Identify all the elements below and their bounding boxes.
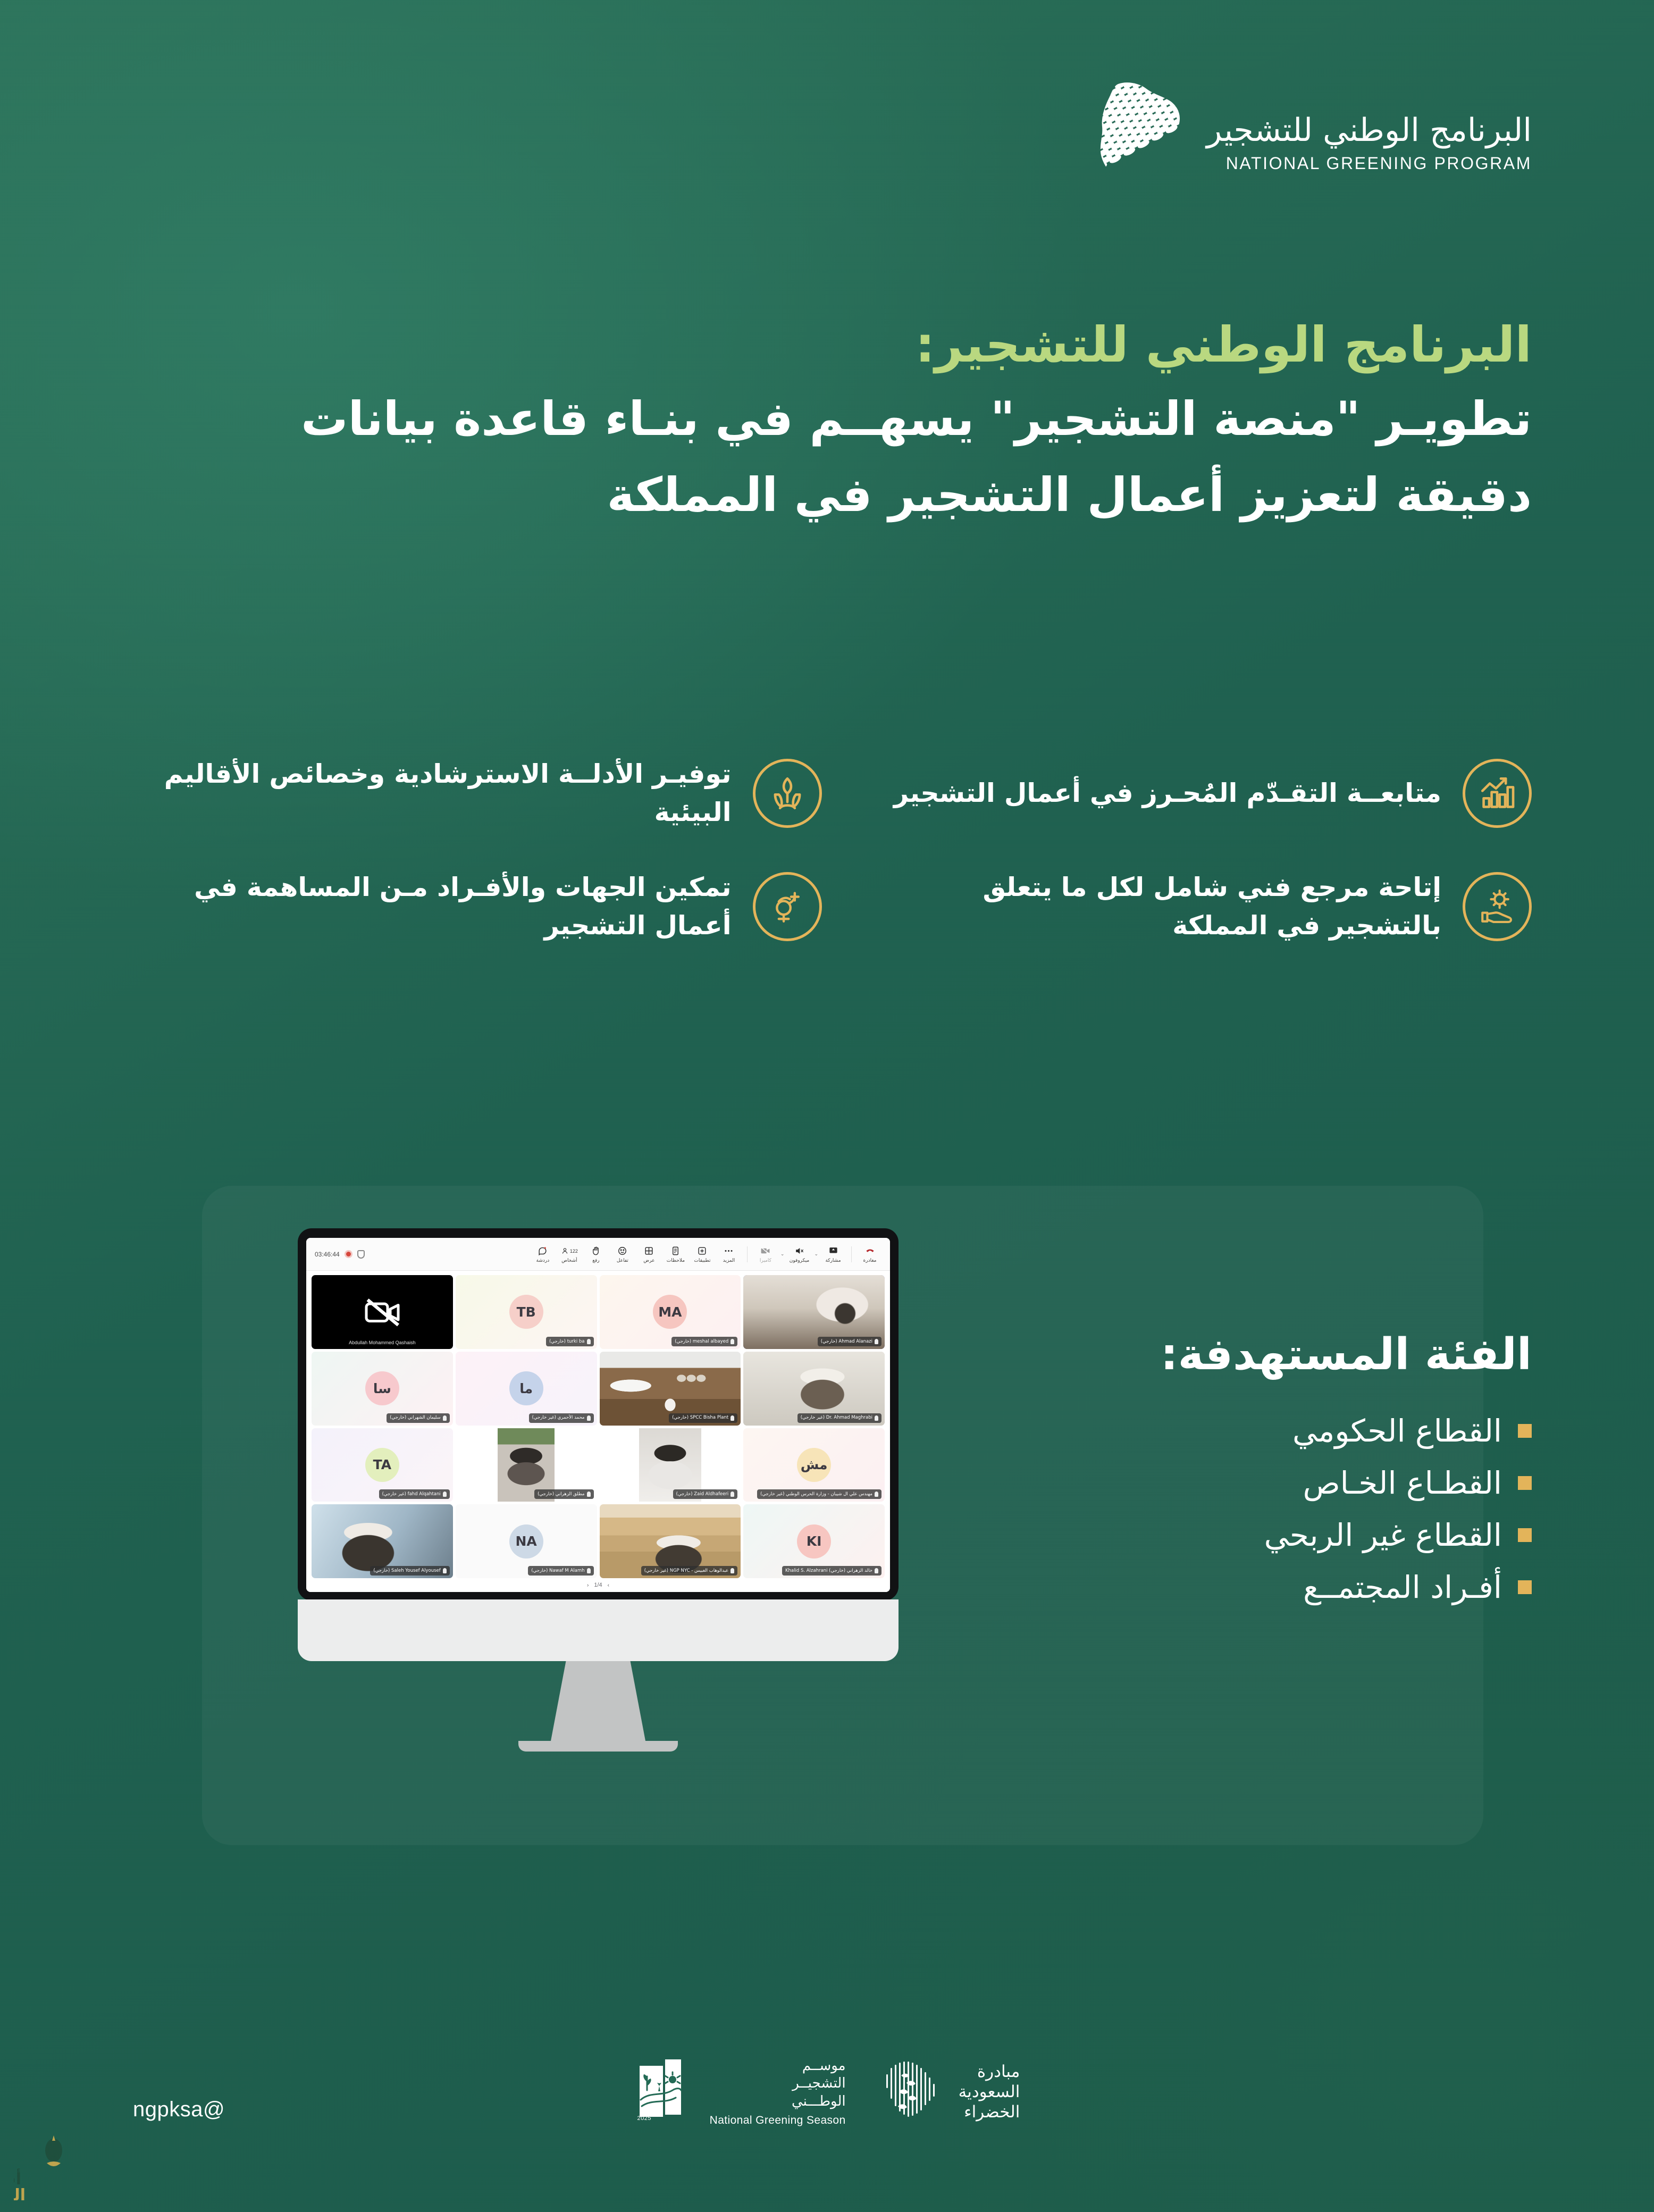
toolbar-label: أشخاص <box>561 1258 577 1263</box>
mic-muted-icon <box>875 1415 878 1421</box>
participant-name-bar: Saleh Yousef Alyousef (خارجي) <box>370 1566 449 1576</box>
headline-line-2: دقيقة لتعزيز أعمال التشجير في المملكة <box>122 462 1532 529</box>
feature-item: توفيـر الأدلــة الاسترشادية وخصائص الأقا… <box>159 755 822 831</box>
participant-tile[interactable]: Abdullah Mohammed Qashaish <box>312 1275 453 1349</box>
list-item: القطاع غير الربحي <box>968 1517 1532 1553</box>
mic-muted-icon <box>587 1568 591 1573</box>
mic-muted-icon <box>731 1415 734 1421</box>
avatar: مش <box>797 1448 831 1482</box>
participant-tile[interactable]: Dr. Ahmad Maghrabi (غير خارجي) <box>743 1352 885 1426</box>
mic-muted-icon <box>587 1339 591 1344</box>
participant-name: Saleh Yousef Alyousef (خارجي) <box>373 1569 440 1573</box>
leave-call-icon <box>865 1245 875 1257</box>
participant-name: Zaid Aldhafeeri (خارجي) <box>676 1492 729 1497</box>
brand-text: البرنامج الوطني للتشجير NATIONAL GREENIN… <box>1206 114 1532 173</box>
mic-muted-icon <box>443 1568 447 1573</box>
apps-icon <box>697 1245 707 1257</box>
participant-name: محمد الأحمري (غير خارجي) <box>532 1415 585 1420</box>
share-screen-icon <box>828 1245 838 1257</box>
ngs-english: National Greening Season <box>710 2114 846 2127</box>
mic-muted-icon <box>443 1415 447 1421</box>
mic-muted-icon <box>443 1492 447 1497</box>
meeting-screen: مغادرة مشاركة ⌄ ميكروفون <box>306 1238 890 1592</box>
feature-item: إتاحة مرجع فني شامل لكل ما يتعلق بالتشجي… <box>870 868 1532 944</box>
participant-tile[interactable]: SPCC Bisha Plant (خارجي) <box>600 1352 741 1426</box>
participant-tile[interactable]: ما محمد الأحمري (غير خارجي) <box>456 1352 597 1426</box>
watermark-line-2: الخبر <box>14 2186 26 2205</box>
camera-off-icon <box>361 1291 404 1333</box>
participant-tile[interactable]: مطلق الزهراني (خارجي) <box>456 1428 597 1502</box>
toolbar-label: عرض <box>643 1258 654 1263</box>
participant-name-bar: fahd Alqahtani (غير خارجي) <box>379 1489 450 1499</box>
headline-line-1: تطويـر "منصة التشجير" يسهــم في بنـاء قا… <box>122 386 1532 453</box>
speaker-icon <box>794 1245 804 1257</box>
meeting-toolbar: مغادرة مشاركة ⌄ ميكروفون <box>306 1238 890 1271</box>
participant-tile[interactable]: Ahmad Alanazi (خارجي) <box>743 1275 885 1349</box>
avatar: TA <box>365 1448 399 1482</box>
sgi-line-3: الخضراء <box>959 2102 1020 2123</box>
toolbar-status: 03:46:44 <box>315 1250 365 1259</box>
monitor-base <box>518 1741 678 1752</box>
toolbar-label: تطبيقات <box>694 1258 710 1263</box>
hands-plant-icon <box>753 759 822 828</box>
participant-tile[interactable]: TA fahd Alqahtani (غير خارجي) <box>312 1428 453 1502</box>
participant-name-bar: خالد الزهراني (خارجي) Khalid S. Alzahran… <box>782 1566 881 1576</box>
chat-icon <box>538 1245 548 1257</box>
avatar: MA <box>653 1295 687 1329</box>
grid-pager[interactable]: › 1/4 ‹ <box>306 1578 890 1592</box>
participant-tile[interactable]: KI خالد الزهراني (خارجي) Khalid S. Alzah… <box>743 1504 885 1578</box>
participant-name-bar: عبدالوهاب الغبيس - NGP NYC (غير خارجي) <box>641 1566 738 1576</box>
shield-icon <box>357 1250 365 1259</box>
view-grid-icon <box>644 1245 654 1257</box>
participant-tile[interactable]: Saleh Yousef Alyousef (خارجي) <box>312 1504 453 1578</box>
camera-off-icon <box>760 1245 770 1257</box>
audience-label: القطاع الحكومي <box>1292 1413 1502 1449</box>
participants-count: 122 <box>570 1249 578 1254</box>
toolbar-label: المزيد <box>723 1258 735 1263</box>
brand-name-arabic: البرنامج الوطني للتشجير <box>1206 114 1532 147</box>
audience-label: أفـراد المجتمــع <box>1303 1569 1502 1605</box>
list-item: أفـراد المجتمــع <box>968 1569 1532 1605</box>
toolbar-divider <box>747 1246 748 1262</box>
sgi-line-2: السعودية <box>959 2082 1020 2102</box>
monitor-neck <box>551 1661 645 1741</box>
participant-name-bar: سليمان الشهراني (خارجي) <box>387 1413 450 1423</box>
ngs-year: 2025 <box>637 2115 651 2122</box>
bullet-icon <box>1518 1528 1532 1542</box>
ngs-line-1: موســم <box>710 2057 846 2075</box>
reactions-icon <box>617 1245 627 1257</box>
participant-tile[interactable]: سا سليمان الشهراني (خارجي) <box>312 1352 453 1426</box>
features-list: متابعــة التقـدّم المُحـرز في أعمال التش… <box>159 755 1532 944</box>
mic-muted-icon <box>875 1492 878 1497</box>
saudi-map-leaves-icon <box>1087 80 1188 207</box>
participant-name: عبدالوهاب الغبيس - NGP NYC (غير خارجي) <box>644 1569 729 1573</box>
mic-muted-icon <box>587 1492 591 1497</box>
toolbar-share-screen[interactable]: مشاركة <box>820 1244 846 1264</box>
ngs-text: موســم التشجيــر الوطـــني National Gree… <box>710 2057 846 2127</box>
toolbar-view[interactable]: عرض <box>636 1244 662 1264</box>
participant-name: SPCC Bisha Plant (خارجي) <box>672 1415 728 1420</box>
toolbar-label: كاميرا <box>760 1258 771 1263</box>
avatar: سا <box>365 1371 399 1405</box>
participant-name: Ahmad Alanazi (خارجي) <box>821 1339 872 1344</box>
bullet-icon <box>1518 1424 1532 1438</box>
bullet-icon <box>1518 1580 1532 1594</box>
people-connect-icon <box>753 872 822 941</box>
meeting-timer: 03:46:44 <box>315 1251 340 1258</box>
saudi-green-initiative-logo: مبادرة السعودية الخضراء <box>883 2060 1020 2124</box>
audience-title: الفئة المستهدفة: <box>968 1329 1532 1380</box>
national-greening-season-logo: موســم التشجيــر الوطـــني National Gree… <box>634 2057 846 2127</box>
desktop-monitor: مغادرة مشاركة ⌄ ميكروفون <box>298 1228 899 1752</box>
toolbar-label: مشاركة <box>825 1258 841 1263</box>
toolbar-microphone[interactable]: ميكروفون <box>786 1244 812 1264</box>
toolbar-raise-hand[interactable]: رفع <box>583 1244 609 1264</box>
toolbar-leave-call[interactable]: مغادرة <box>857 1244 883 1264</box>
participant-name-bar: meshal albayed (خارجي) <box>671 1337 737 1346</box>
toolbar-label: رفع <box>592 1258 599 1263</box>
toolbar-more[interactable]: المزيد <box>716 1244 742 1264</box>
toolbar-camera[interactable]: كاميرا <box>753 1244 778 1264</box>
avatar: TB <box>509 1295 543 1329</box>
participant-name: Nawaf M Alamh (خارجي) <box>531 1569 584 1573</box>
feature-label: توفيـر الأدلــة الاسترشادية وخصائص الأقا… <box>159 755 732 831</box>
participant-name: Abdullah Mohammed Qashaish <box>312 1340 453 1345</box>
feature-label: متابعــة التقـدّم المُحـرز في أعمال التش… <box>870 774 1442 812</box>
toolbar-label: ميكروفون <box>790 1258 809 1263</box>
toolbar-label: دردشة <box>536 1258 550 1263</box>
avatar: KI <box>797 1524 831 1559</box>
participant-name: fahd Alqahtani (غير خارجي) <box>382 1492 441 1497</box>
toolbar-apps[interactable]: تطبيقات <box>690 1244 715 1264</box>
pager-prev-icon[interactable]: ‹ <box>608 1582 609 1588</box>
avatar: ما <box>509 1371 543 1405</box>
recording-indicator-icon <box>345 1250 352 1258</box>
people-icon: 122 <box>561 1245 578 1257</box>
sgi-text: مبادرة السعودية الخضراء <box>959 2062 1020 2122</box>
page-title: البرنامج الوطني للتشجير: تطويـر "منصة ال… <box>122 314 1532 529</box>
watermark-logo: أقلام الخبر <box>14 2125 94 2205</box>
participant-name-bar: Nawaf M Alamh (خارجي) <box>528 1566 593 1576</box>
participant-name-bar: Dr. Ahmad Maghrabi (غير خارجي) <box>797 1413 881 1423</box>
participant-name: meshal albayed (خارجي) <box>675 1339 728 1344</box>
ngs-line-2: التشجيــر <box>710 2075 846 2092</box>
sgi-mark-icon <box>883 2060 947 2124</box>
participant-grid: Abdullah Mohammed Qashaish TB turki ba (… <box>306 1271 890 1578</box>
sgi-line-1: مبادرة <box>959 2062 1020 2082</box>
participant-name: مطلق الزهراني (خارجي) <box>538 1492 584 1497</box>
mic-muted-icon <box>587 1415 591 1421</box>
mic-muted-icon <box>731 1339 734 1344</box>
participant-name-bar: turki ba (خارجي) <box>546 1337 593 1346</box>
pager-label: 1/4 <box>594 1582 602 1588</box>
chevron-down-icon[interactable]: ⌄ <box>813 1252 819 1257</box>
mic-muted-icon <box>731 1568 734 1573</box>
toolbar-reactions[interactable]: تفاعل <box>610 1244 635 1264</box>
hand-gear-icon <box>1463 872 1532 941</box>
notes-icon <box>670 1245 681 1257</box>
monitor-bezel: مغادرة مشاركة ⌄ ميكروفون <box>298 1228 899 1601</box>
toolbar-people[interactable]: 122 أشخاص <box>557 1244 582 1264</box>
feature-item: متابعــة التقـدّم المُحـرز في أعمال التش… <box>870 755 1532 831</box>
toolbar-chat[interactable]: دردشة <box>530 1244 556 1264</box>
participant-tile[interactable]: TB turki ba (خارجي) <box>456 1275 597 1349</box>
chevron-down-icon[interactable]: ⌄ <box>779 1252 786 1257</box>
participant-name: مهندس علي ال شيبان - وزارة الحرس الوطني … <box>760 1492 872 1497</box>
headline-lead: البرنامج الوطني للتشجير: <box>122 314 1532 376</box>
feature-item: تمكين الجهات والأفـراد مـن المساهمة في أ… <box>159 868 822 944</box>
brand-name-english: NATIONAL GREENING PROGRAM <box>1206 154 1532 173</box>
mic-muted-icon <box>731 1492 734 1497</box>
participant-name: turki ba (خارجي) <box>549 1339 584 1344</box>
audience-label: القطـاع الخـاص <box>1303 1465 1502 1501</box>
participant-name-bar: Zaid Aldhafeeri (خارجي) <box>673 1489 738 1499</box>
ngs-line-3: الوطـــني <box>710 2093 846 2110</box>
list-item: القطـاع الخـاص <box>968 1465 1532 1501</box>
brand-logo: البرنامج الوطني للتشجير NATIONAL GREENIN… <box>1087 80 1532 207</box>
audience-list: القطاع الحكومي القطـاع الخـاص القطاع غير… <box>968 1413 1532 1605</box>
participant-tile[interactable]: عبدالوهاب الغبيس - NGP NYC (غير خارجي) <box>600 1504 741 1578</box>
participant-name-bar: SPCC Bisha Plant (خارجي) <box>669 1413 737 1423</box>
pager-next-icon[interactable]: › <box>587 1582 589 1588</box>
feature-label: تمكين الجهات والأفـراد مـن المساهمة في أ… <box>159 868 732 944</box>
participant-tile[interactable]: MA meshal albayed (خارجي) <box>600 1275 741 1349</box>
more-icon <box>724 1245 734 1257</box>
ngs-mark-icon: 2025 <box>634 2058 698 2126</box>
participant-name-bar: مطلق الزهراني (خارجي) <box>534 1489 593 1499</box>
avatar: NA <box>509 1524 543 1559</box>
bullet-icon <box>1518 1476 1532 1490</box>
toolbar-notes[interactable]: ملاحظات <box>663 1244 689 1264</box>
participant-name-bar: Ahmad Alanazi (خارجي) <box>818 1337 881 1346</box>
participant-name: Dr. Ahmad Maghrabi (غير خارجي) <box>801 1415 872 1420</box>
participant-name-bar: محمد الأحمري (غير خارجي) <box>529 1413 594 1423</box>
participant-tile[interactable]: NA Nawaf M Alamh (خارجي) <box>456 1504 597 1578</box>
toolbar-divider <box>851 1246 852 1262</box>
social-handle: @ngpksa <box>133 2098 225 2122</box>
feature-label: إتاحة مرجع فني شامل لكل ما يتعلق بالتشجي… <box>870 868 1442 944</box>
toolbar-label: ملاحظات <box>667 1258 685 1263</box>
participant-tile[interactable]: Zaid Aldhafeeri (خارجي) <box>600 1428 741 1502</box>
footer-logos: مبادرة السعودية الخضراء <box>0 2057 1654 2127</box>
participant-tile[interactable]: مش مهندس علي ال شيبان - وزارة الحرس الوط… <box>743 1428 885 1502</box>
toolbar-label: تفاعل <box>617 1258 628 1263</box>
monitor-chin <box>298 1599 899 1661</box>
growth-chart-icon <box>1463 759 1532 828</box>
audience-label: القطاع غير الربحي <box>1264 1517 1502 1553</box>
participant-name-bar: مهندس علي ال شيبان - وزارة الحرس الوطني … <box>757 1489 881 1499</box>
participant-name: سليمان الشهراني (خارجي) <box>390 1415 441 1420</box>
participant-name: خالد الزهراني (خارجي) Khalid S. Alzahran… <box>785 1569 872 1573</box>
target-audience-section: الفئة المستهدفة: القطاع الحكومي القطـاع … <box>968 1329 1532 1621</box>
mic-muted-icon <box>875 1339 878 1344</box>
list-item: القطاع الحكومي <box>968 1413 1532 1449</box>
mic-muted-icon <box>875 1568 878 1573</box>
toolbar-label: مغادرة <box>863 1258 877 1263</box>
raise-hand-icon <box>591 1245 601 1257</box>
